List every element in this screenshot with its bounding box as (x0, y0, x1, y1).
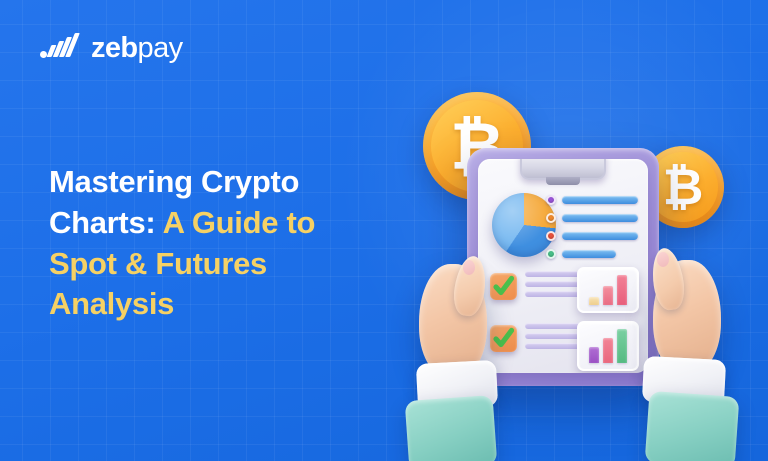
headline-line-2-accent: A Guide to (163, 205, 316, 240)
brand-name-light: pay (138, 32, 183, 64)
bullet-dot-icon (546, 231, 556, 241)
sleeve (405, 395, 498, 461)
bullet-bar (562, 250, 616, 258)
list-item (546, 195, 638, 205)
headline-line-4: Analysis (49, 286, 174, 321)
bullet-bar (562, 232, 638, 240)
bullet-bar (562, 196, 638, 204)
list-item (546, 231, 638, 241)
bullet-dot-icon (546, 195, 556, 205)
bullet-bar (562, 214, 638, 222)
headline-line-3: Spot & Futures (49, 246, 267, 281)
brand-logo[interactable]: zebpay (40, 33, 183, 63)
bullet-dot-icon (546, 213, 556, 223)
clipboard-clip-icon (520, 159, 606, 180)
list-item (546, 213, 638, 223)
thumb-nail (657, 252, 669, 267)
headline-line-1: Mastering Crypto (49, 164, 299, 199)
zebpay-slashes-icon (40, 33, 82, 63)
bullet-dot-icon (546, 249, 556, 259)
banner-canvas: zebpay Mastering Crypto Charts: A Guide … (0, 0, 768, 461)
sleeve (645, 391, 740, 461)
hand-left (411, 258, 521, 461)
page-title: Mastering Crypto Charts: A Guide to Spot… (49, 162, 409, 326)
headline-line-2-white: Charts: (49, 205, 155, 240)
thumb-nail (463, 260, 475, 275)
brand-name-bold: zeb (91, 32, 138, 64)
hand-right (623, 252, 741, 461)
hero-illustration: ₿ ₿ (395, 0, 768, 461)
brand-name: zebpay (91, 34, 183, 63)
